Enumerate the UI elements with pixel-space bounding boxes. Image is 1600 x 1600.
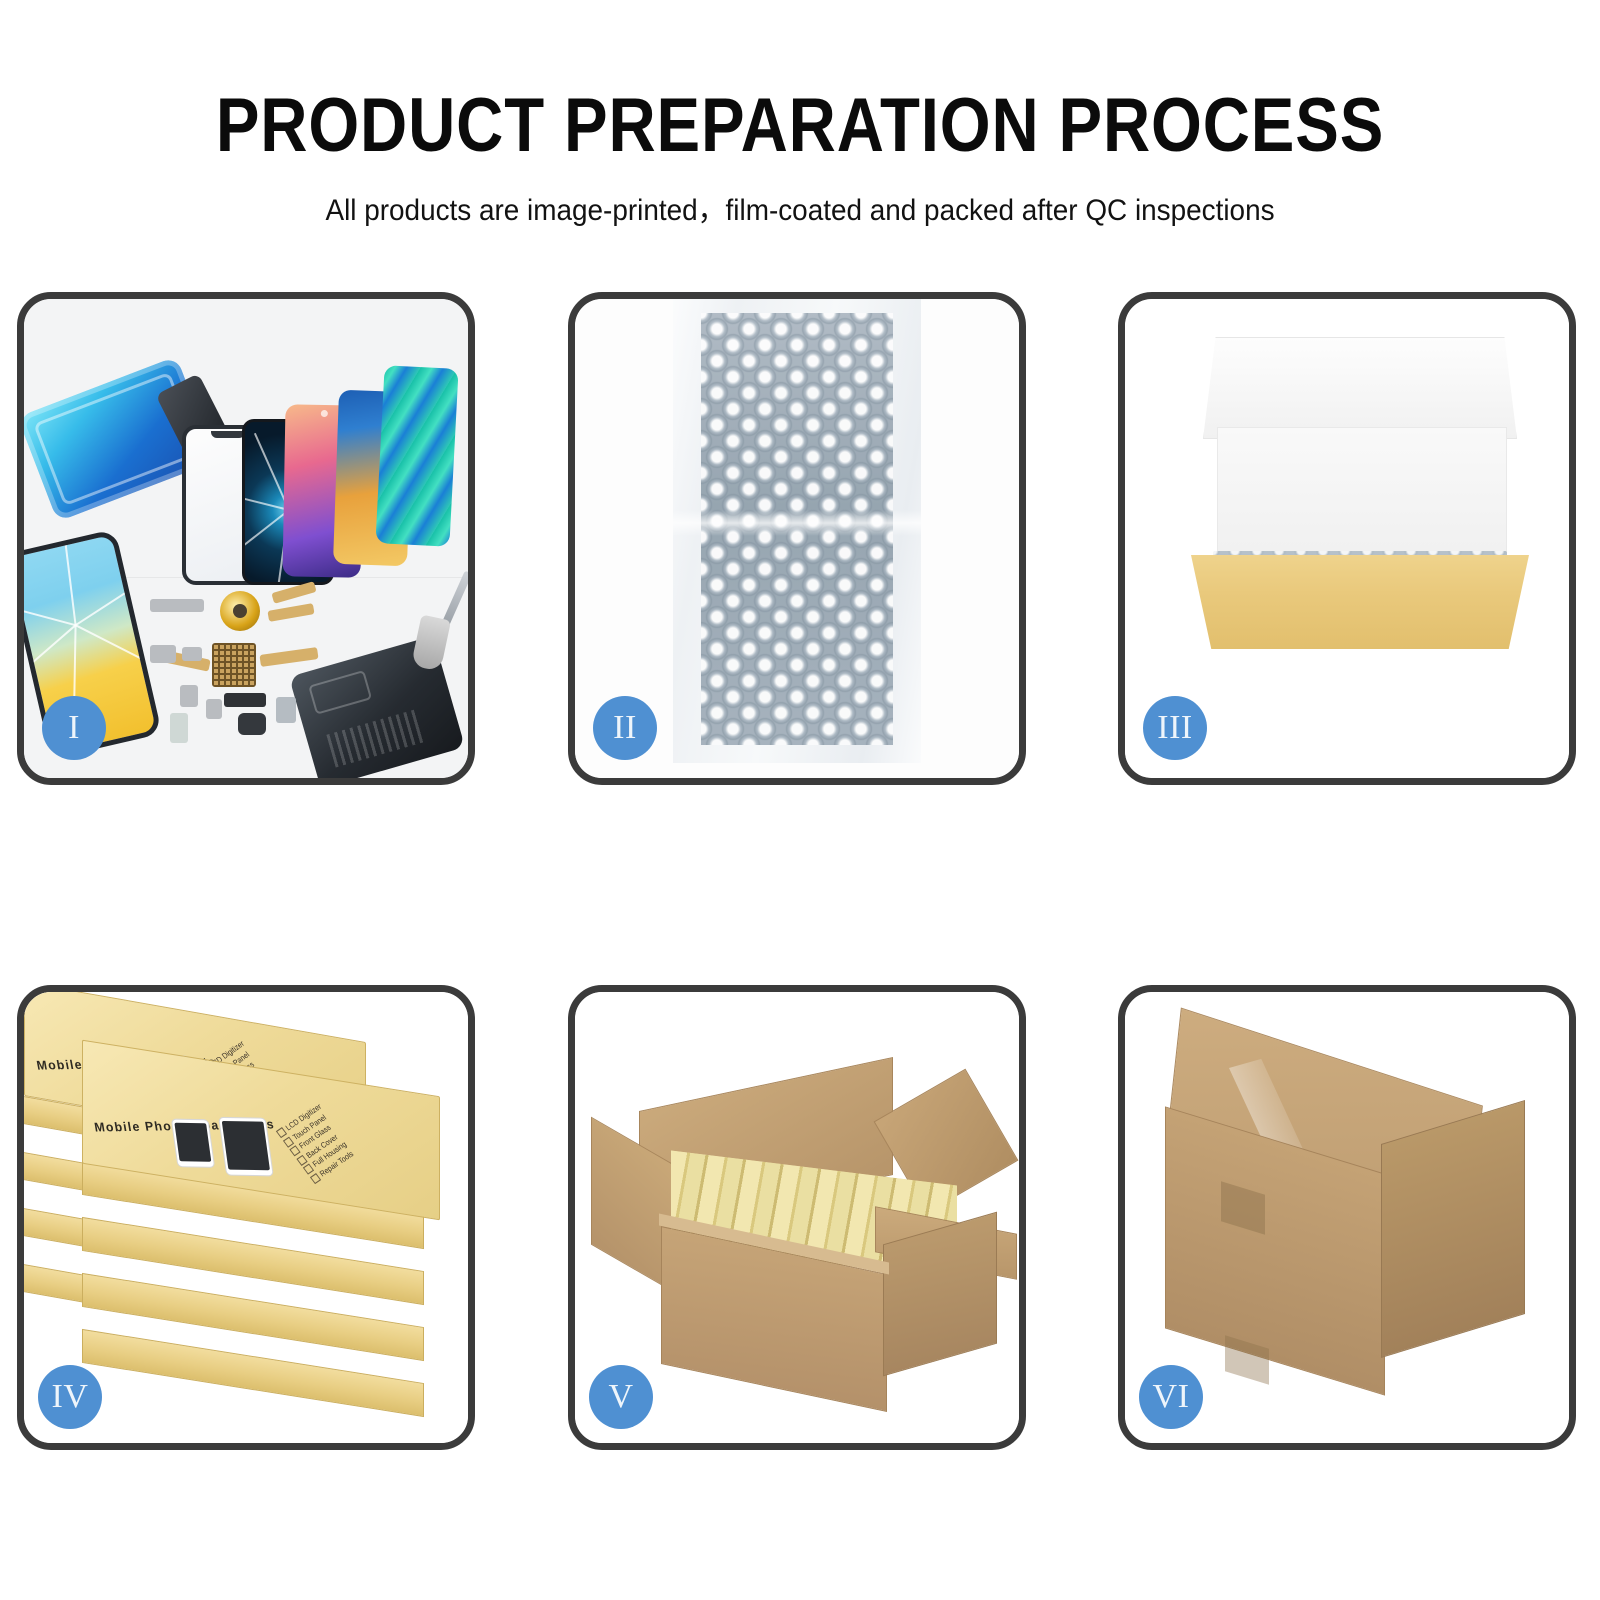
small-part-6 — [276, 697, 296, 723]
step-badge-3: III — [1143, 696, 1207, 760]
step-badge-1: I — [42, 696, 106, 760]
process-step-3-panel[interactable]: III — [1118, 292, 1576, 785]
camera-module — [238, 713, 266, 735]
sim-tray — [170, 713, 188, 743]
process-step-6-panel[interactable]: VI — [1118, 985, 1576, 1450]
process-step-1-panel[interactable]: I — [17, 292, 475, 785]
retail-box-screen-image-front-2 — [219, 1118, 272, 1176]
process-step-4-panel[interactable]: Mobile Phone Spare Parts LCD Digitizer T… — [17, 985, 475, 1450]
gold-box-tray — [1191, 555, 1529, 649]
retail-box-checklist-front: LCD Digitizer Touch Panel Front Glass Ba… — [275, 1102, 358, 1185]
speaker-module — [150, 599, 204, 612]
box-lid-back — [1203, 337, 1517, 439]
small-part-1 — [150, 645, 176, 663]
small-part-4 — [180, 685, 198, 707]
process-step-2-panel[interactable]: II — [568, 292, 1026, 785]
process-step-5-panel[interactable]: V — [568, 985, 1026, 1450]
plastic-sheen — [673, 510, 921, 536]
phone-display-teal — [375, 365, 458, 547]
logic-chip — [212, 643, 256, 687]
step-badge-2: II — [593, 696, 657, 760]
small-part-3 — [224, 693, 266, 707]
bubble-wrap-pouch — [673, 299, 921, 763]
step-badge-6: VI — [1139, 1365, 1203, 1429]
wireless-charging-coil — [220, 591, 260, 631]
small-part-2 — [182, 647, 202, 661]
step-badge-4: IV — [38, 1365, 102, 1429]
retail-box-screen-image-front-1 — [172, 1120, 214, 1167]
step-badge-5: V — [589, 1365, 653, 1429]
carton-right-face — [1381, 1100, 1525, 1358]
process-panel-grid: I II III — [0, 0, 1600, 1600]
small-part-5 — [206, 699, 222, 719]
box-lid-inner — [1217, 427, 1507, 565]
